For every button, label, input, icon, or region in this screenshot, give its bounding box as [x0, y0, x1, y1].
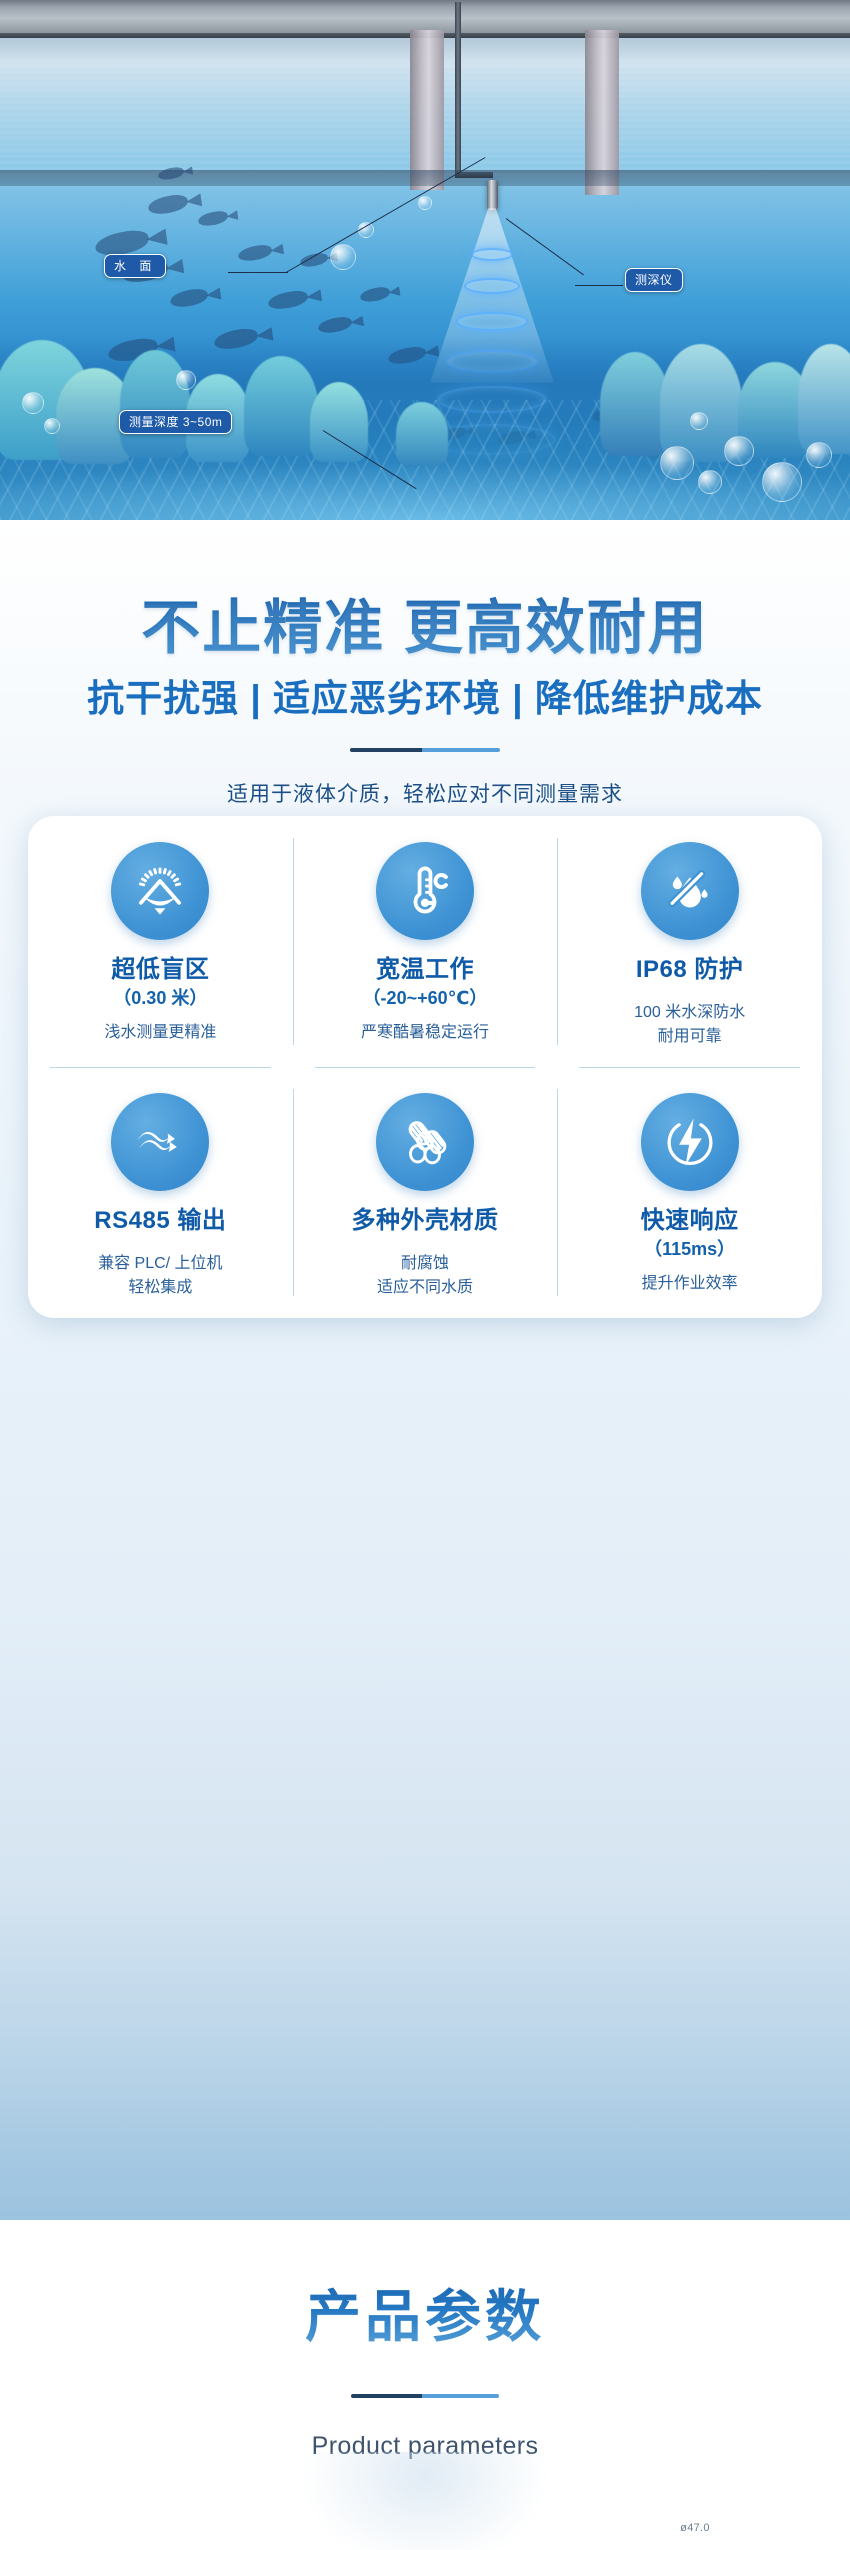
- waterproof-droplet-icon: [641, 842, 739, 940]
- fish: [237, 244, 273, 263]
- sonar-ring-2: [464, 278, 520, 294]
- feature-subtitle: （-20~+60℃）: [363, 989, 488, 1009]
- feature-description: 兼容 PLC/ 上位机 轻松集成: [98, 1252, 222, 1298]
- leader-line-sounder-angled: [506, 218, 584, 275]
- feature-card-blind-zone[interactable]: 超低盲区 （0.30 米） 浅水测量更精准: [28, 816, 293, 1067]
- depth-sounder-probe: [487, 180, 498, 210]
- coral: [120, 350, 190, 458]
- bridge-pillar-left: [410, 30, 444, 190]
- product-preview-ghost: [300, 2452, 550, 2550]
- callout-water-surface[interactable]: 水 面: [104, 254, 166, 278]
- feature-description: 严寒酷暑稳定运行: [361, 1021, 489, 1044]
- bubble: [330, 244, 356, 270]
- fish: [267, 289, 309, 310]
- feature-title: 宽温工作: [376, 957, 474, 983]
- feature-card-ip68[interactable]: IP68 防护 100 米水深防水 耐用可靠: [557, 816, 822, 1067]
- coral: [310, 382, 368, 462]
- fish: [359, 286, 391, 303]
- fish: [197, 210, 229, 227]
- fish: [147, 193, 189, 215]
- feature-title: 快速响应: [641, 1208, 739, 1234]
- leader-line-sounder: [575, 285, 623, 286]
- thermometer-celsius-icon: [376, 842, 474, 940]
- signal-flow-arrows-icon: [111, 1093, 209, 1191]
- feature-card-grid: 超低盲区 （0.30 米） 浅水测量更精准 宽: [28, 816, 822, 1318]
- feature-card-fast-response[interactable]: 快速响应 （115ms） 提升作业效率: [557, 1067, 822, 1318]
- features-subheadline: 抗干扰强 | 适应恶劣环境 | 降低维护成本: [0, 668, 850, 722]
- product-parameters-section: 产品参数 Product parameters ø47.0: [0, 2220, 850, 2550]
- feature-description: 100 米水深防水 耐用可靠: [634, 1001, 745, 1047]
- feature-card-rs485[interactable]: RS485 输出 兼容 PLC/ 上位机 轻松集成: [28, 1067, 293, 1318]
- product-parameters-divider: [351, 2394, 499, 2398]
- bubble: [418, 196, 432, 210]
- feature-card-housing-materials[interactable]: 多种外壳材质 耐腐蚀 适应不同水质: [293, 1067, 558, 1318]
- pipe-materials-icon: [376, 1093, 474, 1191]
- feature-description: 浅水测量更精准: [104, 1021, 216, 1044]
- callout-measuring-range[interactable]: 测量深度 3~50m: [119, 410, 232, 434]
- sonar-ring-1: [471, 248, 513, 261]
- bubble: [660, 446, 694, 480]
- features-tagline: 适用于液体介质，轻松应对不同测量需求: [0, 778, 850, 808]
- waterline: [0, 170, 850, 186]
- fish: [169, 287, 209, 308]
- bubble: [44, 418, 60, 434]
- feature-description: 提升作业效率: [642, 1272, 738, 1295]
- fish: [317, 316, 353, 335]
- product-detail-page: 水 面 测深仪 测量深度 3~50m 不止精准 更高效耐用 抗干扰强 | 适应恶…: [0, 0, 850, 2550]
- hero-underwater-illustration: 水 面 测深仪 测量深度 3~50m: [0, 0, 850, 520]
- feature-subtitle: （115ms）: [644, 1240, 735, 1260]
- dimension-label: ø47.0: [0, 2522, 850, 2534]
- bubble: [22, 392, 44, 414]
- bubble: [762, 462, 802, 502]
- bubble: [698, 470, 722, 494]
- product-parameters-title: 产品参数: [0, 2272, 850, 2353]
- coral: [244, 356, 318, 456]
- features-headline: 不止精准 更高效耐用: [0, 580, 850, 665]
- feature-description: 耐腐蚀 适应不同水质: [377, 1252, 473, 1298]
- bubble: [724, 436, 754, 466]
- headline-divider: [350, 748, 500, 752]
- feature-card-wide-temperature[interactable]: 宽温工作 （-20~+60℃） 严寒酷暑稳定运行: [293, 816, 558, 1067]
- blind-zone-gauge-icon: [111, 842, 209, 940]
- leader-line-water-surface: [228, 272, 288, 273]
- bubble: [176, 370, 196, 390]
- feature-title: 多种外壳材质: [351, 1208, 498, 1234]
- feature-title: RS485 输出: [94, 1208, 226, 1234]
- section-bottom-fade: [0, 1890, 850, 2220]
- feature-title: 超低盲区: [111, 957, 209, 983]
- features-section: 不止精准 更高效耐用 抗干扰强 | 适应恶劣环境 | 降低维护成本 适用于液体介…: [0, 520, 850, 2220]
- bubble: [806, 442, 832, 468]
- lightning-bolt-icon: [641, 1093, 739, 1191]
- bubble: [690, 412, 708, 430]
- coral: [396, 402, 448, 466]
- sonar-ring-3: [456, 312, 528, 331]
- callout-depth-sounder[interactable]: 测深仪: [625, 268, 683, 292]
- feature-title: IP68 防护: [636, 957, 744, 983]
- sensor-mounting-bracket: [455, 2, 461, 177]
- feature-subtitle: （0.30 米）: [113, 989, 207, 1009]
- dimension-value: ø47.0: [680, 2522, 710, 2534]
